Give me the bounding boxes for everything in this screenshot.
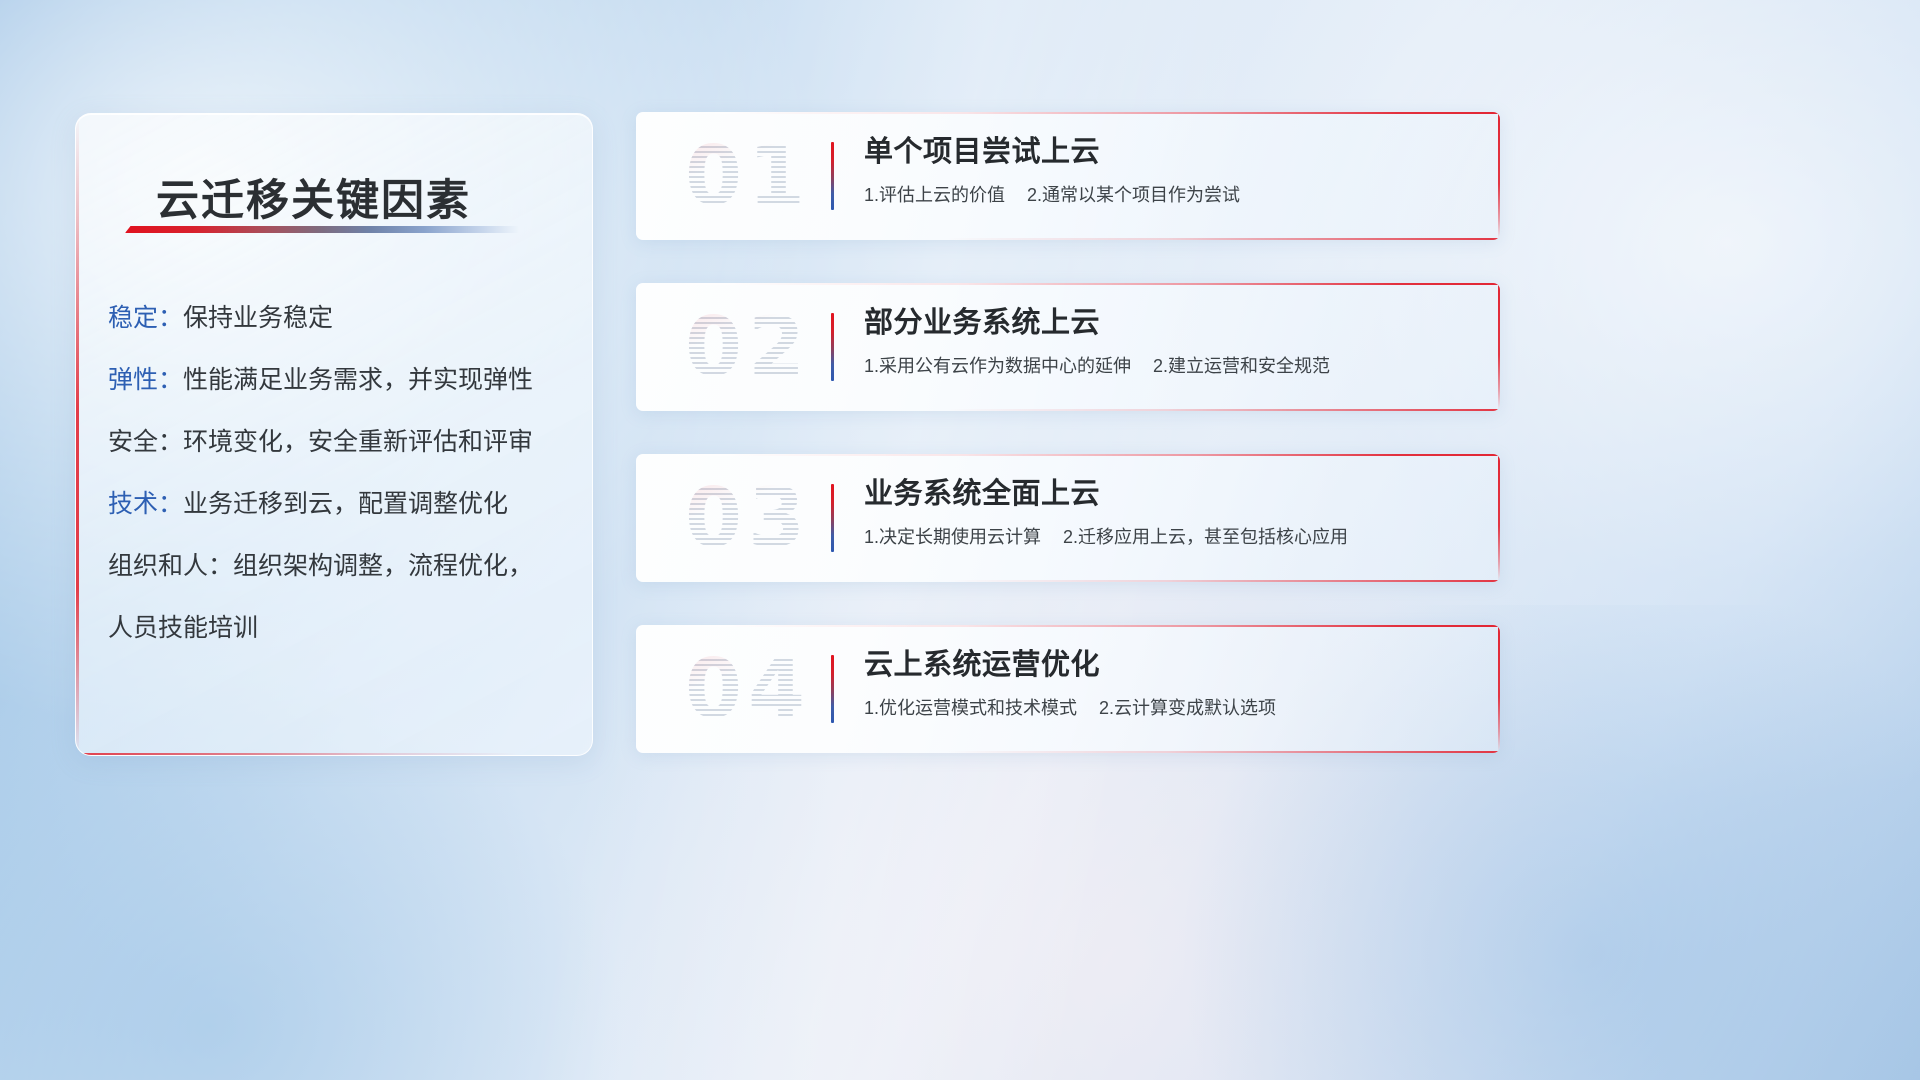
list-item: 人员技能培训 [108,616,574,641]
card-title: 部分业务系统上云 [864,306,1476,340]
list-item: 组织和人：组织架构调整，流程优化， [108,554,574,579]
card-point-1: 1.采用公有云作为数据中心的延伸 [864,356,1131,376]
key-factors-list: 稳定：保持业务稳定 弹性：性能满足业务需求，并实现弹性 安全：环境变化，安全重新… [108,306,574,641]
card-body: 单个项目尝试上云 1.评估上云的价值2.通常以某个项目作为尝试 [864,135,1476,207]
card-top-accent-line [636,625,1500,627]
card-title: 业务系统全面上云 [864,477,1476,511]
list-item-text: 环境变化，安全重新评估和评审 [183,428,533,456]
card-subtitle: 1.采用公有云作为数据中心的延伸2.建立运营和安全规范 [864,356,1476,378]
page-title: 云迁移关键因素 [156,166,471,228]
card-number-tint: 01 [658,126,838,226]
list-item-text: 业务迁移到云，配置调整优化 [183,490,508,518]
card-point-1: 1.评估上云的价值 [864,185,1005,205]
card-divider-bar [831,655,834,723]
card-body: 部分业务系统上云 1.采用公有云作为数据中心的延伸2.建立运营和安全规范 [864,306,1476,378]
migration-stage-cards: 01 01 单个项目尝试上云 1.评估上云的价值2.通常以某个项目作为尝试 02… [636,112,1500,753]
list-item-label: 弹性： [108,366,183,394]
card-bottom-accent-line [947,409,1500,411]
card-right-accent-line [1498,625,1500,753]
card-bottom-accent-line [947,580,1500,582]
card-subtitle: 1.优化运营模式和技术模式2.云计算变成默认选项 [864,698,1476,720]
card-top-accent-line [636,454,1500,456]
list-item: 弹性：性能满足业务需求，并实现弹性 [108,368,574,393]
card-body: 云上系统运营优化 1.优化运营模式和技术模式2.云计算变成默认选项 [864,648,1476,720]
card-right-accent-line [1498,283,1500,411]
stage-card[interactable]: 01 01 单个项目尝试上云 1.评估上云的价值2.通常以某个项目作为尝试 [636,112,1500,240]
list-item-label: 组织和人： [108,552,233,580]
list-item-text: 性能满足业务需求，并实现弹性 [183,366,533,394]
panel-bottom-accent-bar [76,753,592,756]
card-divider-bar [831,484,834,552]
list-item-label: 安全： [108,428,183,456]
list-item-text: 人员技能培训 [108,614,258,642]
card-title: 单个项目尝试上云 [864,135,1476,169]
card-number-tint: 04 [658,639,838,739]
card-subtitle: 1.评估上云的价值2.通常以某个项目作为尝试 [864,185,1476,207]
list-item-label: 技术： [108,490,183,518]
card-point-1: 1.优化运营模式和技术模式 [864,698,1077,718]
card-point-2: 2.迁移应用上云，甚至包括核心应用 [1063,527,1348,547]
slide-stage: 云迁移关键因素 稳定：保持业务稳定 弹性：性能满足业务需求，并实现弹性 安全：环… [0,0,1920,1080]
card-bottom-accent-line [947,751,1500,753]
list-item: 技术：业务迁移到云，配置调整优化 [108,492,574,517]
stage-card[interactable]: 02 02 部分业务系统上云 1.采用公有云作为数据中心的延伸2.建立运营和安全… [636,283,1500,411]
panel-left-accent-bar [76,114,79,755]
list-item-text: 保持业务稳定 [183,304,333,332]
stage-card[interactable]: 04 04 云上系统运营优化 1.优化运营模式和技术模式2.云计算变成默认选项 [636,625,1500,753]
card-point-1: 1.决定长期使用云计算 [864,527,1041,547]
card-divider-bar [831,313,834,381]
card-right-accent-line [1498,454,1500,582]
card-top-accent-line [636,283,1500,285]
card-divider-bar [831,142,834,210]
key-factors-panel: 云迁移关键因素 稳定：保持业务稳定 弹性：性能满足业务需求，并实现弹性 安全：环… [75,113,593,756]
card-point-2: 2.云计算变成默认选项 [1099,698,1276,718]
list-item: 稳定：保持业务稳定 [108,306,574,331]
card-body: 业务系统全面上云 1.决定长期使用云计算2.迁移应用上云，甚至包括核心应用 [864,477,1476,549]
card-point-2: 2.建立运营和安全规范 [1153,356,1330,376]
card-point-2: 2.通常以某个项目作为尝试 [1027,185,1240,205]
card-subtitle: 1.决定长期使用云计算2.迁移应用上云，甚至包括核心应用 [864,527,1476,549]
card-title: 云上系统运营优化 [864,648,1476,682]
list-item-text: 组织架构调整，流程优化， [233,552,533,580]
card-number-tint: 03 [658,468,838,568]
card-right-accent-line [1498,112,1500,240]
title-underline-rule [125,226,519,233]
list-item: 安全：环境变化，安全重新评估和评审 [108,430,574,455]
card-bottom-accent-line [947,238,1500,240]
stage-card[interactable]: 03 03 业务系统全面上云 1.决定长期使用云计算2.迁移应用上云，甚至包括核… [636,454,1500,582]
card-top-accent-line [636,112,1500,114]
card-number-tint: 02 [658,297,838,397]
list-item-label: 稳定： [108,304,183,332]
